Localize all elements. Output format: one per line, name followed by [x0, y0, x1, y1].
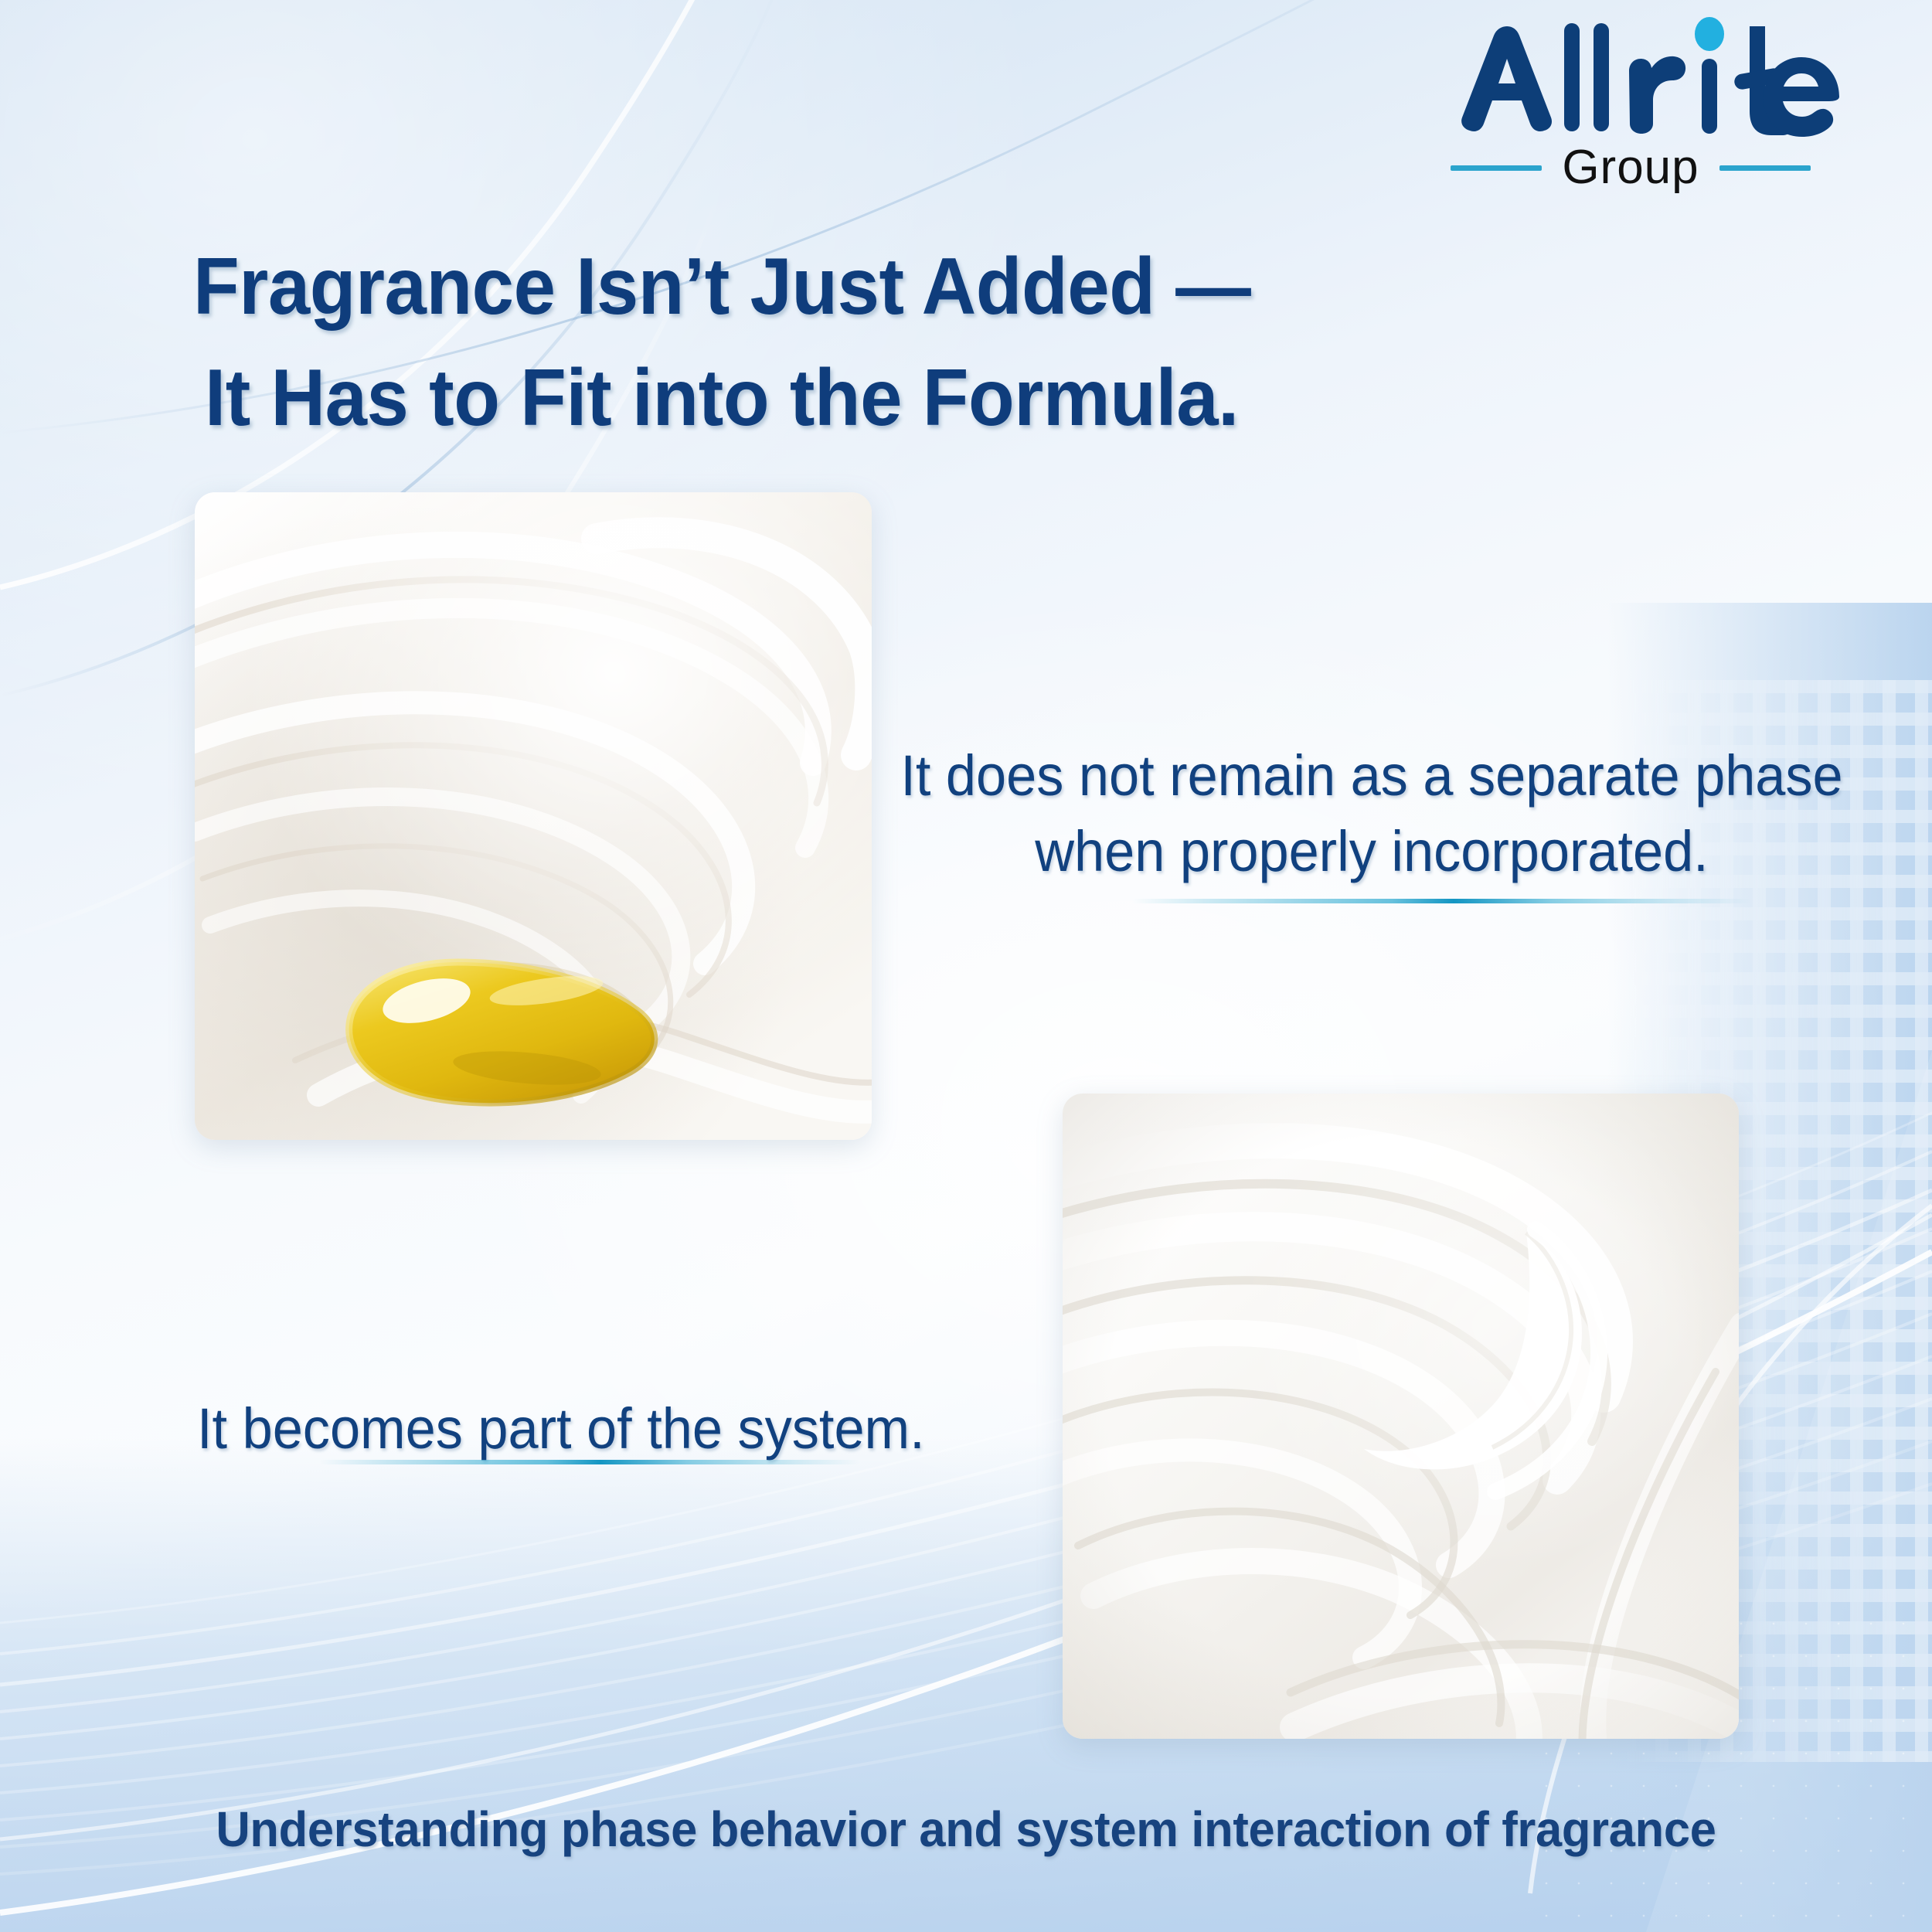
headline-line-1: Fragrance Isn’t Just Added —: [193, 232, 1428, 343]
page-title: Fragrance Isn’t Just Added — It Has to F…: [193, 232, 1428, 454]
statement-divider-2: [319, 1460, 860, 1464]
logo-subtitle-row: Group: [1414, 144, 1847, 192]
cream-oil-illustration: [195, 492, 872, 1140]
headline-line-2: It Has to Fit into the Formula.: [193, 343, 1428, 454]
allrite-logo-icon: [1422, 15, 1839, 139]
logo-rule-left: [1451, 165, 1542, 171]
photo-cream-with-oil-droplet: [195, 492, 872, 1140]
cream-swirl-illustration: [1063, 1094, 1739, 1739]
statement-text-1: It does not remain as a separate phase w…: [898, 738, 1845, 890]
logo-rule-right: [1719, 165, 1811, 171]
statement-divider-1: [1132, 899, 1750, 903]
photo-cream-swirl-texture: [1063, 1094, 1739, 1739]
statement-text-2: It becomes part of the system.: [197, 1391, 931, 1467]
footer-caption: Understanding phase behavior and system …: [39, 1801, 1893, 1858]
poster-canvas: Group Fragrance Isn’t Just Added — It Ha…: [0, 0, 1932, 1932]
logo-subtitle: Group: [1562, 144, 1699, 192]
logo-wordmark: [1414, 15, 1847, 139]
brand-logo[interactable]: Group: [1414, 15, 1847, 192]
